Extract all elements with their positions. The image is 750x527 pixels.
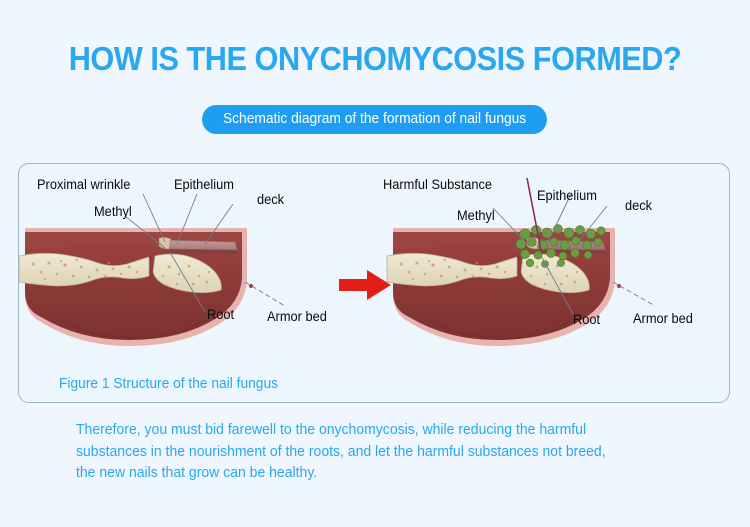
armor-bed-leader xyxy=(613,282,655,306)
label-harmful-substance: Harmful Substance xyxy=(383,177,492,192)
label-methyl: Methyl xyxy=(94,204,132,219)
figure-1-caption: Figure 1 Structure of the nail fungus xyxy=(59,376,278,392)
label-armor-bed: Armor bed xyxy=(267,309,327,324)
nail-root-pocket xyxy=(159,237,171,249)
label-deck: deck xyxy=(257,192,284,207)
footer-line-1: Therefore, you must bid farewell to the … xyxy=(76,420,681,442)
page-title: HOW IS THE ONYCHOMYCOSIS FORMED? xyxy=(26,40,724,78)
label-root: Root xyxy=(207,307,234,322)
label-epithelium: Epithelium xyxy=(537,188,597,203)
label-deck: deck xyxy=(625,198,652,213)
footer-line-3: the new nails that grow can be healthy. xyxy=(76,463,681,485)
label-epithelium: Epithelium xyxy=(174,177,234,192)
label-methyl: Methyl xyxy=(457,208,495,223)
figure-2-diagram: Harmful Substance Epithelium deck Methyl… xyxy=(375,164,731,404)
footer-paragraph: Therefore, you must bid farewell to the … xyxy=(76,420,681,485)
label-root: Root xyxy=(573,312,600,327)
footer-line-2: substances in the nourishment of the roo… xyxy=(76,442,681,464)
subtitle-pill: Schematic diagram of the formation of na… xyxy=(202,105,547,134)
figure-1-diagram: Proximal wrinkle Epithelium deck Methyl … xyxy=(19,164,375,404)
red-right-arrow-icon xyxy=(337,268,393,302)
nail-plate xyxy=(165,240,237,250)
label-proximal-wrinkle: Proximal wrinkle xyxy=(37,177,130,192)
subtitle-pill-wrapper: Schematic diagram of the formation of na… xyxy=(0,105,750,134)
armor-bed-leader xyxy=(245,282,285,306)
label-armor-bed: Armor bed xyxy=(633,311,693,326)
infographic-page: HOW IS THE ONYCHOMYCOSIS FORMED? Schemat… xyxy=(0,0,750,527)
finger-cross-section-healthy xyxy=(19,164,375,404)
